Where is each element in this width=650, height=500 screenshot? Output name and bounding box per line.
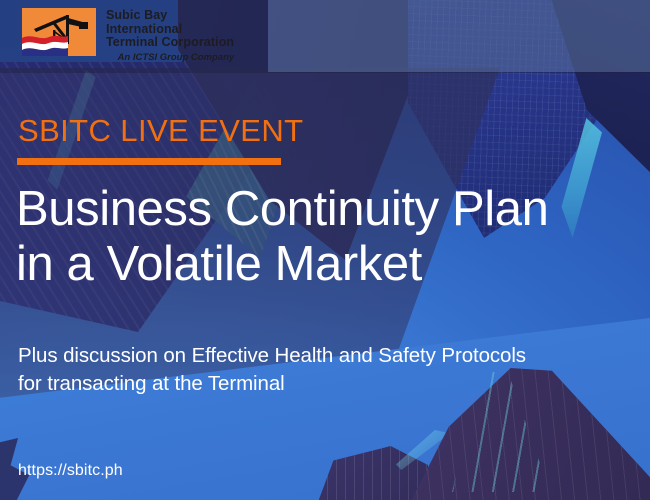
poster-content: SBITC LIVE EVENT Business Continuity Pla… — [0, 0, 650, 500]
logo-tagline: An ICTSI Group Company — [106, 50, 234, 63]
eyebrow-underline-rule — [17, 158, 281, 165]
page-title: Business Continuity Plan in a Volatile M… — [16, 182, 650, 292]
website-url[interactable]: https://sbitc.ph — [18, 462, 123, 480]
event-eyebrow-label: SBITC LIVE EVENT — [18, 115, 303, 146]
subtitle-line-1: Plus discussion on Effective Health and … — [18, 344, 526, 367]
page-subtitle: Plus discussion on Effective Health and … — [18, 342, 618, 399]
headline-line-2: in a Volatile Market — [16, 237, 650, 292]
event-poster: Subic Bay International Terminal Corpora… — [0, 0, 650, 500]
sbitc-crane-logo-icon — [22, 8, 96, 56]
logo-line-1: Subic Bay — [106, 9, 234, 23]
logo-wordmark: Subic Bay International Terminal Corpora… — [106, 8, 234, 63]
subtitle-line-2: for transacting at the Terminal — [18, 370, 618, 398]
headline-line-1: Business Continuity Plan — [16, 182, 548, 236]
sbitc-logo-lockup: Subic Bay International Terminal Corpora… — [22, 8, 234, 63]
logo-line-3: Terminal Corporation — [106, 36, 234, 50]
logo-line-2: International — [106, 23, 234, 37]
